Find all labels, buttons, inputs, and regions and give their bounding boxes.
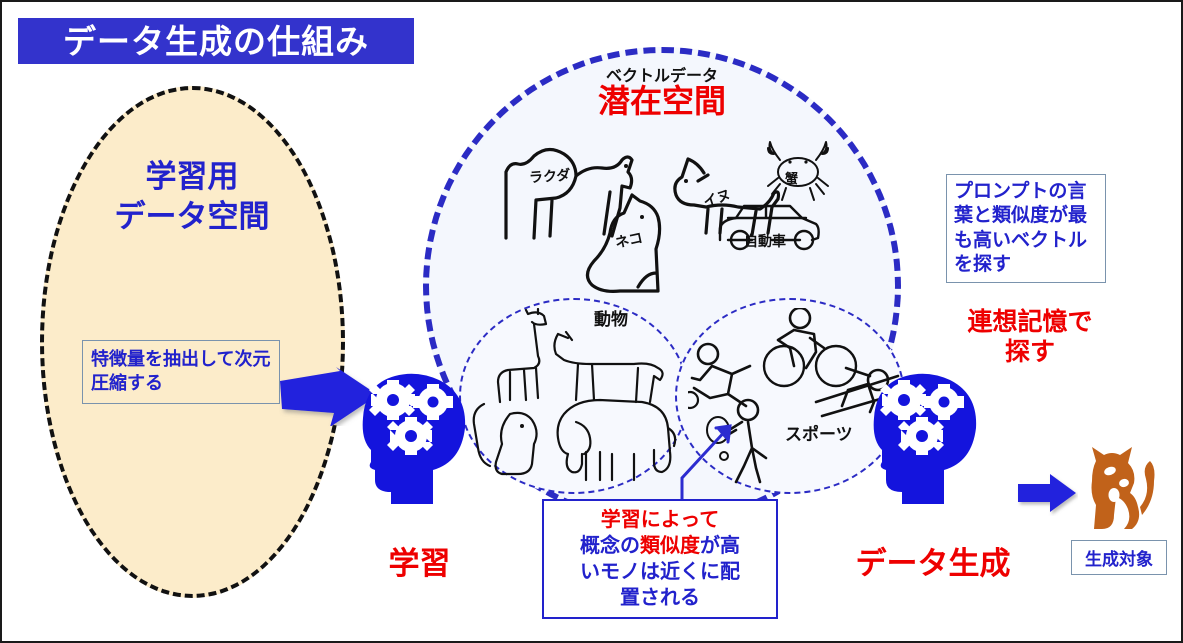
cat-silhouette-icon <box>1080 445 1158 533</box>
elephant-icon <box>542 394 682 490</box>
prompt-search-note: プロンプトの言葉と類似度が最も高いベクトルを探す <box>946 174 1106 283</box>
associative-memory-label: 連想記憶で 探す <box>930 307 1130 367</box>
camel-label: ラクダ <box>528 165 571 188</box>
callout-line-2b: 類似度 <box>640 535 700 557</box>
generation-head-with-gears-icon <box>868 370 988 505</box>
car-label: 自動車 <box>744 231 786 251</box>
diagram-canvas: データ生成の仕組み 学習用 データ空間 特徴量を抽出して次元圧縮する ベクトルデ… <box>0 0 1183 643</box>
feature-extraction-note: 特徴量を抽出して次元圧縮する <box>82 340 280 404</box>
associative-line-2: 探す <box>930 337 1130 367</box>
training-data-space-label: 学習用 データ空間 <box>47 157 337 236</box>
similarity-callout-box: 学習によって 概念の類似度が高 いモノは近くに配 置される <box>542 499 778 619</box>
associative-line-1: 連想記憶で <box>930 307 1130 337</box>
page-title: データ生成の仕組み <box>63 25 369 58</box>
generate-arrow-icon <box>1016 472 1078 516</box>
latent-space-title: 潜在空間 <box>562 84 762 119</box>
training-label-line2: データ空間 <box>47 197 337 237</box>
crab-label: 蟹 <box>785 168 798 187</box>
callout-line-2a: 概念の <box>580 535 640 557</box>
callout-line-3: いモノは近くに配 <box>552 559 768 585</box>
training-label-line1: 学習用 <box>47 157 337 197</box>
page-title-bar: データ生成の仕組み <box>18 18 414 64</box>
learning-head-with-gears-icon <box>357 370 477 505</box>
generated-target-label-box: 生成対象 <box>1071 540 1167 575</box>
animals-cluster-label: 動物 <box>594 305 628 330</box>
callout-line-2c: が高 <box>700 535 740 557</box>
learning-stage-label: 学習 <box>352 538 487 583</box>
callout-arrow-icon <box>678 418 788 508</box>
generation-stage-label: データ生成 <box>840 538 1026 583</box>
callout-line-1: 学習によって <box>552 507 768 533</box>
callout-line-2: 概念の類似度が高 <box>552 533 768 559</box>
callout-line-4: 置される <box>552 585 768 611</box>
